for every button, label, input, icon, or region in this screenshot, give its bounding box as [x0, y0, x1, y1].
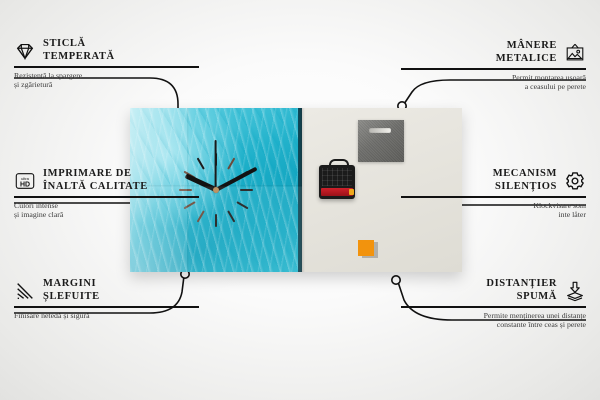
feature-title-line1: MECANISM: [493, 168, 557, 181]
feature-desc-line1: Permite menținerea unei distanțe: [401, 311, 586, 321]
feature-title-line1: IMPRIMARE DE: [43, 168, 148, 181]
feature-title-line1: DISTANȚIER: [486, 278, 557, 291]
feature-rule: [14, 196, 199, 198]
feature-desc-line2: și zgârietură: [14, 80, 199, 90]
infographic-stage: STICLĂ TEMPERATĂ Rezistentă la spargere …: [0, 0, 600, 400]
second-hand: [215, 140, 217, 190]
feature-rule: [401, 306, 586, 308]
leader-dot-foam-spacer: [392, 276, 400, 284]
diamond-icon: [14, 40, 36, 62]
feature-desc-line2: constante între ceas și perete: [401, 320, 586, 330]
feature-rule: [14, 66, 199, 68]
feature-title-line2: SILENȚIOS: [493, 181, 557, 194]
feature-title-line2: METALICE: [496, 53, 557, 66]
clock-movement-part: [319, 165, 355, 199]
svg-text:ultra: ultra: [21, 176, 30, 181]
feature-desc-line2: inte låter: [401, 210, 586, 220]
foam-spacer-part: [358, 240, 374, 256]
feature-title-line1: MÂNERE: [496, 40, 557, 53]
feature-title-line2: ÎNALTĂ CALITATE: [43, 181, 148, 194]
feature-rule: [401, 196, 586, 198]
diagonal-lines-icon: [14, 280, 36, 302]
feature-desc-line1: Finisare netedă și sigură: [14, 311, 199, 321]
picture-frame-icon: [564, 42, 586, 64]
feature-desc-line2: a ceasului pe perete: [401, 82, 586, 92]
feature-desc-line1: Rezistentă la spargere: [14, 71, 199, 81]
feature-foam-spacer: DISTANȚIER SPUMĂ Permite menținerea unei…: [401, 278, 586, 330]
feature-title-line2: SPUMĂ: [486, 291, 557, 304]
minute-hand: [215, 167, 257, 192]
feature-metal-handles: MÂNERE METALICE Permit montarea ușoară a…: [401, 40, 586, 92]
arrow-down-layers-icon: [564, 280, 586, 302]
gear-icon: [564, 170, 586, 192]
feature-rule: [14, 306, 199, 308]
svg-text:HD: HD: [20, 181, 30, 188]
feature-high-quality-print: ultra HD IMPRIMARE DE ÎNALTĂ CALITATE Cu…: [14, 168, 199, 220]
feature-silent-mechanism: MECANISM SILENȚIOS Klockvisare som inte …: [401, 168, 586, 220]
feature-title-line1: MARGINI: [43, 278, 100, 291]
feature-title-line2: TEMPERATĂ: [43, 51, 115, 64]
feature-tempered-glass: STICLĂ TEMPERATĂ Rezistentă la spargere …: [14, 38, 199, 90]
feature-rule: [401, 68, 586, 70]
clock-center-pin: [213, 187, 219, 193]
feature-title-line1: STICLĂ: [43, 38, 115, 51]
feature-desc-line1: Permit montarea ușoară: [401, 73, 586, 83]
metal-hanger-part: [358, 120, 404, 162]
feature-desc-line1: Klockvisare som: [401, 201, 586, 211]
feature-desc-line2: și imagine clară: [14, 210, 199, 220]
ultra-hd-icon: ultra HD: [14, 170, 36, 192]
feature-desc-line1: Culori intense: [14, 201, 199, 211]
feature-polished-edges: MARGINI ȘLEFUITE Finisare netedă și sigu…: [14, 278, 199, 320]
feature-title-line2: ȘLEFUITE: [43, 291, 100, 304]
